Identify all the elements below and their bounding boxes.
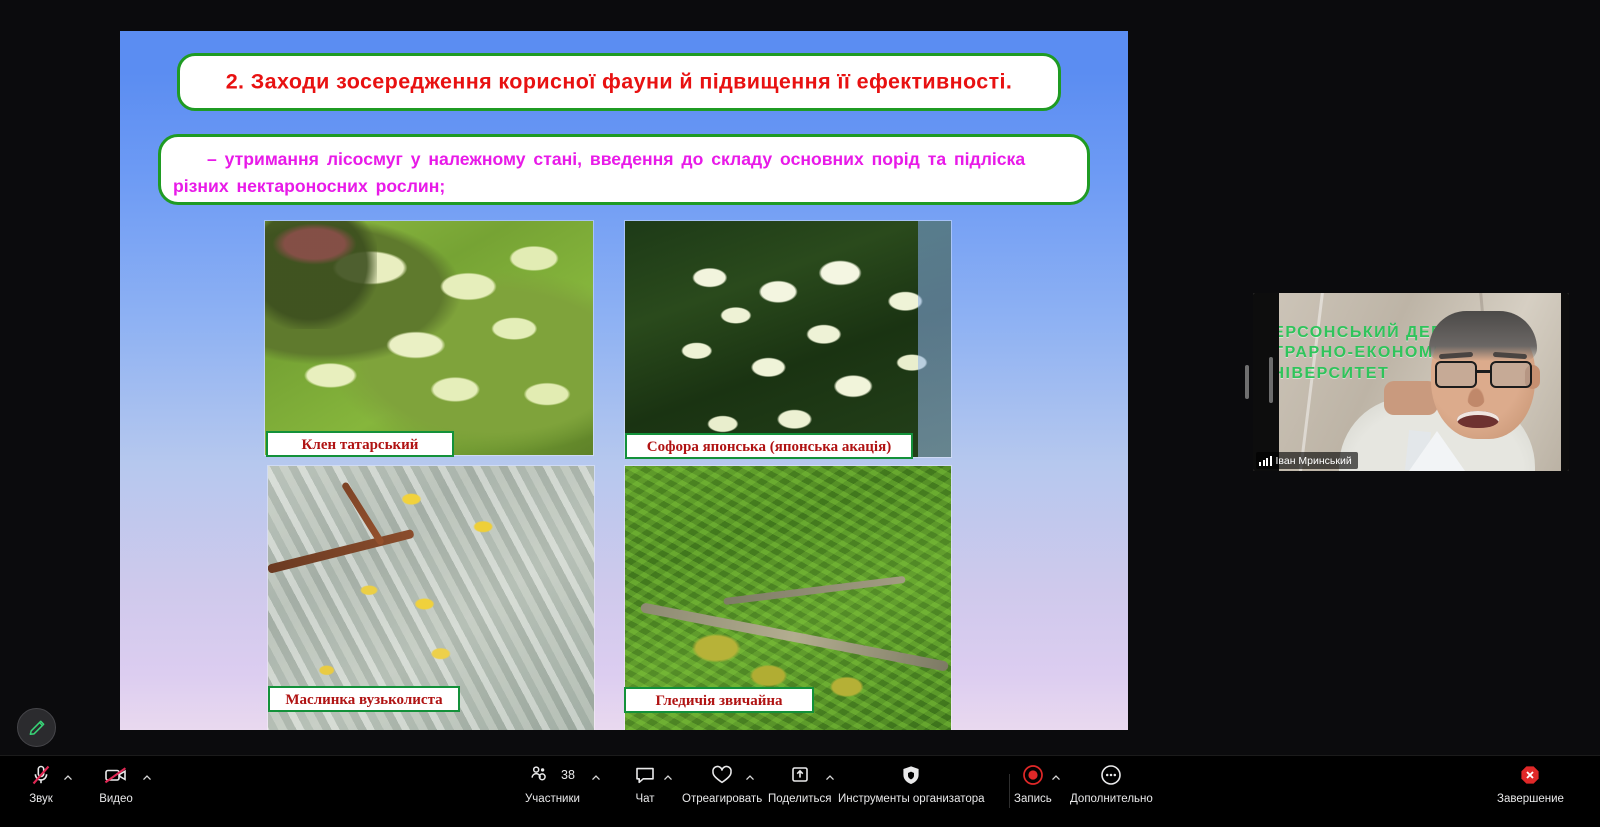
chevron-up-icon [62, 772, 74, 784]
video-options-caret[interactable] [141, 772, 153, 784]
ellipsis-icon [1099, 763, 1123, 787]
japanese-sophora-photo [624, 220, 952, 458]
record-options-caret[interactable] [1050, 772, 1062, 784]
share-label: Поделиться [768, 793, 832, 805]
participants-button[interactable]: 38 Участники [525, 762, 580, 805]
audio-options-caret[interactable] [62, 772, 74, 784]
chat-bubble-icon [634, 764, 656, 786]
end-call-octagon-icon [1518, 763, 1542, 787]
signal-bars-icon [1259, 456, 1272, 466]
shared-screen-stage: 2. Заходи зосередження корисної фауни й … [0, 0, 1600, 755]
tatarian-maple-photo [264, 220, 594, 456]
record-dot-icon [1021, 763, 1045, 787]
japanese-sophora-caption: Софора японська (японська акація) [625, 433, 913, 459]
slide-title-box: 2. Заходи зосередження корисної фауни й … [177, 53, 1061, 111]
chevron-up-icon [590, 772, 602, 784]
record-label: Запись [1014, 793, 1052, 805]
leave-label: Завершение [1497, 793, 1564, 805]
audio-label: Звук [29, 793, 53, 805]
chevron-up-icon [824, 772, 836, 784]
slide-body-line-1: – утримання лісосмуг у належному стані, … [207, 149, 1025, 169]
slide-body-box: – утримання лісосмуг у належному стані, … [158, 134, 1090, 205]
share-screen-button[interactable]: Поделиться [768, 762, 832, 805]
share-options-caret[interactable] [824, 772, 836, 784]
participants-count: 38 [561, 768, 575, 782]
chat-label: Чат [635, 793, 654, 805]
video-button[interactable]: Видео [99, 762, 133, 805]
chevron-up-icon [1050, 772, 1062, 784]
participants-icon [530, 765, 552, 785]
narrow-leaf-oleaster-caption: Маслинка вузьколиста [268, 686, 460, 712]
honey-locust-caption: Гледичія звичайна [624, 687, 814, 713]
record-button[interactable]: Запись [1014, 762, 1052, 805]
audio-button[interactable]: Звук [24, 762, 58, 805]
pencil-annotate-icon [27, 718, 47, 738]
share-screen-icon [789, 764, 811, 786]
video-label: Видео [99, 793, 133, 805]
tatarian-maple-caption: Клен татарський [266, 431, 454, 457]
chat-options-caret[interactable] [662, 772, 674, 784]
react-options-caret[interactable] [744, 772, 756, 784]
more-label: Дополнительно [1070, 793, 1153, 805]
toolbar-divider [1009, 774, 1010, 808]
camera-off-icon [103, 763, 129, 787]
annotate-button[interactable] [17, 708, 56, 747]
zoom-meeting-window: 2. Заходи зосередження корисної фауни й … [0, 0, 1600, 827]
heart-icon [710, 764, 734, 786]
chat-button[interactable]: Чат [628, 762, 662, 805]
participant-name-badge: Іван Мринський [1256, 452, 1358, 469]
participant-video-tile[interactable]: ХЕРСОНСЬКИЙ ДЕРЖАВНИЙ АГРАРНО-ЕКОНОМІЧНИ… [1253, 293, 1569, 471]
shield-icon [901, 764, 921, 786]
eyeglasses-icon [1433, 361, 1537, 388]
meeting-toolbar: Звук Видео [0, 755, 1600, 827]
participant-name: Іван Мринський [1276, 455, 1352, 467]
chevron-up-icon [141, 772, 153, 784]
participants-options-caret[interactable] [590, 772, 602, 784]
participants-label: Участники [525, 793, 580, 805]
react-label: Отреагировать [682, 793, 762, 805]
slide-body-line-2: різних нектароносних рослин; [173, 176, 445, 196]
more-button[interactable]: Дополнительно [1070, 762, 1153, 805]
host-tools-button[interactable]: Инструменты организатора [838, 762, 985, 805]
slide-body-text: – утримання лісосмуг у належному стані, … [173, 146, 1077, 199]
presentation-slide: 2. Заходи зосередження корисної фауни й … [120, 31, 1128, 730]
chevron-up-icon [744, 772, 756, 784]
slide-title: 2. Заходи зосередження корисної фауни й … [180, 70, 1058, 95]
microphone-muted-icon [29, 763, 53, 787]
thumbnail-resize-handle[interactable] [1245, 365, 1249, 399]
chevron-up-icon [662, 772, 674, 784]
leave-meeting-button[interactable]: Завершение [1497, 762, 1564, 805]
host-tools-label: Инструменты организатора [838, 793, 985, 805]
